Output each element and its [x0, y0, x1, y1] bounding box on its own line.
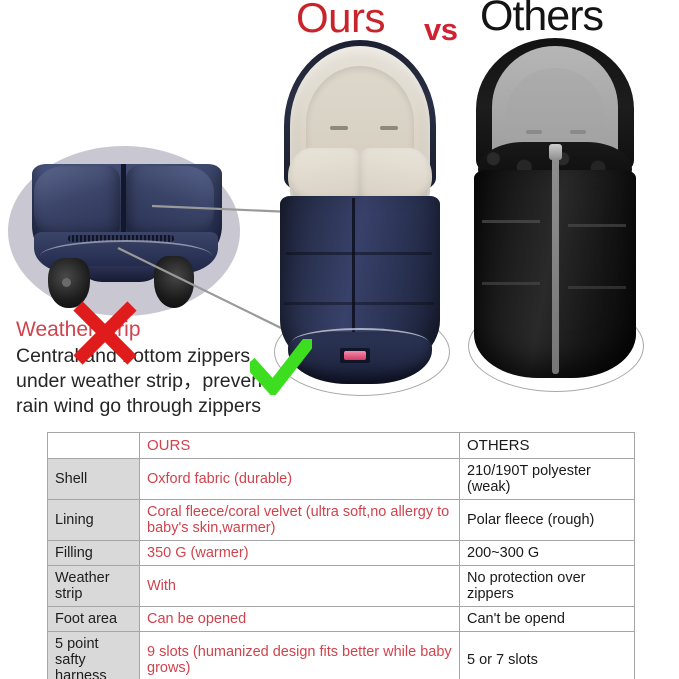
cross-mark-icon — [70, 300, 140, 366]
row-label-weather-strip: Weather strip — [48, 566, 140, 607]
table-row: Filling 350 G (warmer) 200~300 G — [48, 541, 635, 566]
weather-strip-description: Central and bottom zippers under weather… — [16, 344, 284, 419]
others-quilt-line-3 — [482, 282, 540, 285]
product-comparison-infographic: Ours vs Others Weather strip Central and… — [0, 0, 679, 679]
row-label-filling: Filling — [48, 541, 140, 566]
others-harness-slot-left — [526, 130, 542, 134]
cell-ours-filling: 350 G (warmer) — [140, 541, 460, 566]
inset-wheel-right — [154, 256, 194, 308]
others-quilt-line-2 — [568, 224, 626, 227]
others-harness-slot-right — [570, 130, 586, 134]
inset-center-gap — [121, 164, 126, 238]
table-header-ours: OURS — [140, 433, 460, 459]
others-quilt-line-1 — [482, 220, 540, 223]
weather-strip-detail-inset — [8, 146, 240, 326]
ours-quilt-line-2 — [284, 302, 434, 305]
ours-product-photo — [268, 40, 450, 390]
row-label-foot-area: Foot area — [48, 607, 140, 632]
table-row: Lining Coral fleece/coral velvet (ultra … — [48, 500, 635, 541]
inset-left-flap — [34, 166, 120, 238]
ours-center-seam — [352, 198, 355, 348]
row-label-shell: Shell — [48, 459, 140, 500]
ours-quilt-line-1 — [286, 252, 432, 255]
cell-others-foot-area: Can't be opend — [460, 607, 635, 632]
inset-right-flap — [126, 166, 214, 238]
others-quilt-line-4 — [568, 286, 626, 289]
table-header-row: OURS OTHERS — [48, 433, 635, 459]
inset-stroller-axle — [82, 266, 160, 282]
cell-ours-lining: Coral fleece/coral velvet (ultra soft,no… — [140, 500, 460, 541]
table-header-others: OTHERS — [460, 433, 635, 459]
table-row: 5 point safty harness 9 slots (humanized… — [48, 632, 635, 679]
others-product-photo — [466, 38, 644, 390]
table-row: Weather strip With No protection over zi… — [48, 566, 635, 607]
heading-others: Others — [480, 0, 603, 41]
comparison-table: OURS OTHERS Shell Oxford fabric (durable… — [47, 432, 635, 679]
cell-others-shell: 210/190T polyester (weak) — [460, 459, 635, 500]
cell-ours-shell: Oxford fabric (durable) — [140, 459, 460, 500]
others-exposed-zipper — [552, 146, 559, 374]
cell-ours-foot-area: Can be opened — [140, 607, 460, 632]
heading-ours: Ours — [296, 0, 385, 42]
others-zipper-pull — [549, 144, 562, 160]
row-label-harness: 5 point safty harness — [48, 632, 140, 679]
table-row: Shell Oxford fabric (durable) 210/190T p… — [48, 459, 635, 500]
inset-stroller-photo — [26, 162, 226, 312]
cell-others-filling: 200~300 G — [460, 541, 635, 566]
table-header-blank — [48, 433, 140, 459]
ours-harness-slot-left — [330, 126, 348, 130]
cell-ours-harness: 9 slots (humanized design fits better wh… — [140, 632, 460, 679]
cell-others-harness: 5 or 7 slots — [460, 632, 635, 679]
cell-others-weather-strip: No protection over zippers — [460, 566, 635, 607]
cell-others-lining: Polar fleece (rough) — [460, 500, 635, 541]
row-label-lining: Lining — [48, 500, 140, 541]
table-row: Foot area Can be opened Can't be opend — [48, 607, 635, 632]
cell-ours-weather-strip: With — [140, 566, 460, 607]
ours-harness-slot-right — [380, 126, 398, 130]
ours-brand-label — [340, 348, 370, 363]
check-mark-icon — [250, 339, 312, 395]
